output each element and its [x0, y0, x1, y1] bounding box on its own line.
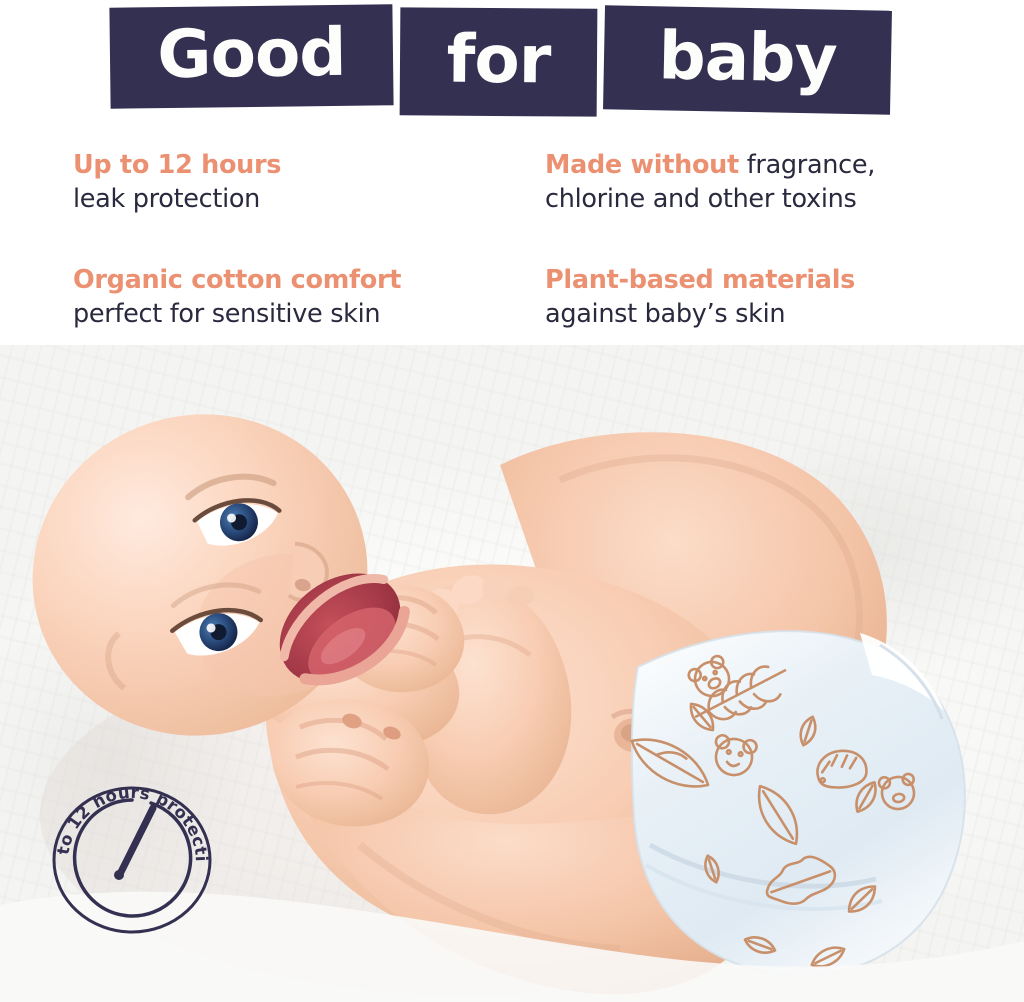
feature-headline: Up to 12 hours [73, 148, 281, 182]
headline-block-good: Good [109, 4, 393, 108]
feature-organic-cotton: Organic cotton comfort perfect for sensi… [73, 263, 401, 331]
headline: Good for baby [0, 0, 1024, 130]
feature-detail: chlorine and other toxins [545, 182, 875, 216]
feature-strong-text: Organic cotton comfort [73, 265, 401, 295]
feature-detail: perfect for sensitive skin [73, 297, 401, 331]
headline-word-for: for [446, 27, 550, 94]
feature-made-without: Made without fragrance, chlorine and oth… [545, 148, 875, 216]
promo-banner: Good for baby Up to 12 hours leak protec… [0, 0, 1024, 1002]
headline-word-baby: baby [658, 23, 837, 92]
protection-badge: up to 12 hours protection [48, 778, 216, 936]
feature-headline: Made without fragrance, [545, 148, 875, 182]
clock-hand [120, 808, 153, 874]
clock-center [114, 870, 124, 880]
feature-plant-based: Plant-based materials against baby’s ski… [545, 263, 855, 331]
feature-headline: Organic cotton comfort [73, 263, 401, 297]
feature-inline-rest: fragrance, [739, 150, 875, 180]
headline-block-baby: baby [603, 5, 892, 114]
feature-leak-protection: Up to 12 hours leak protection [73, 148, 281, 216]
feature-headline: Plant-based materials [545, 263, 855, 297]
headline-word-good: Good [157, 19, 346, 87]
badge-svg: up to 12 hours protection [48, 778, 216, 936]
feature-strong-text: Plant-based materials [545, 265, 855, 295]
feature-detail: leak protection [73, 182, 281, 216]
headline-block-for: for [400, 7, 598, 116]
feature-detail: against baby’s skin [545, 297, 855, 331]
feature-strong-text: Made without [545, 150, 739, 180]
feature-strong-text: Up to 12 hours [73, 150, 281, 180]
